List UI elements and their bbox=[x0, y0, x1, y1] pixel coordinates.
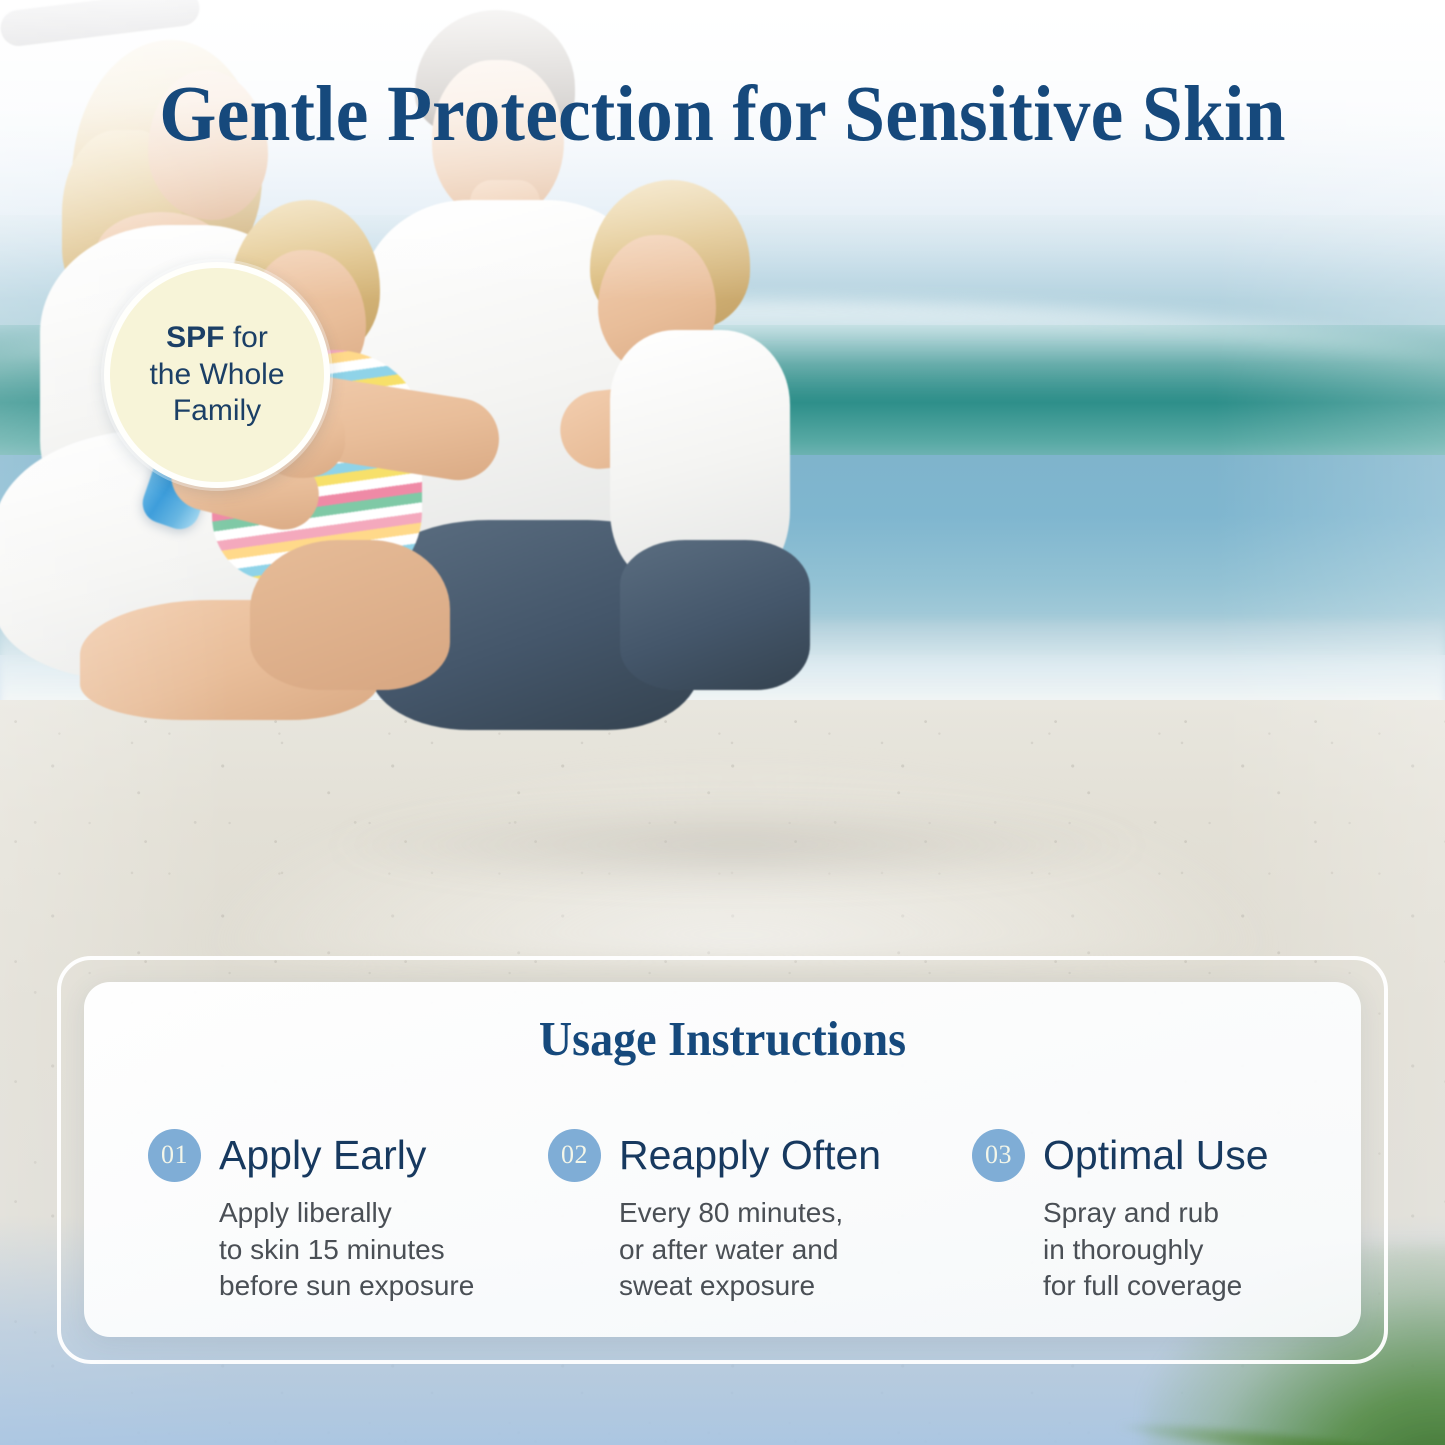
spf-badge-line1-bold: SPF bbox=[166, 321, 224, 354]
step-2-body: Every 80 minutes, or after water and swe… bbox=[619, 1195, 881, 1305]
step-2-header: 02 Reapply Often bbox=[548, 1127, 881, 1183]
instruction-step-3: 03 Optimal Use Spray and rub in thorough… bbox=[972, 1127, 1269, 1305]
step-1-body: Apply liberally to skin 15 minutes befor… bbox=[219, 1195, 474, 1305]
spf-badge: SPF for the Whole Family bbox=[104, 262, 330, 488]
step-3-number-badge: 03 bbox=[972, 1129, 1025, 1182]
product-infographic-poster: Gentle Protection for Sensitive Skin SPF… bbox=[0, 0, 1445, 1445]
step-2-title: Reapply Often bbox=[619, 1135, 881, 1176]
card-heading: Usage Instructions bbox=[122, 1010, 1322, 1067]
step-1-number-badge: 01 bbox=[148, 1129, 201, 1182]
instruction-step-2: 02 Reapply Often Every 80 minutes, or af… bbox=[548, 1127, 881, 1305]
spf-badge-line3: Family bbox=[173, 394, 261, 427]
spf-badge-text: SPF for the Whole Family bbox=[133, 320, 300, 430]
step-1-title: Apply Early bbox=[219, 1135, 426, 1176]
instruction-step-1: 01 Apply Early Apply liberally to skin 1… bbox=[148, 1127, 474, 1305]
page-title: Gentle Protection for Sensitive Skin bbox=[51, 70, 1395, 160]
step-3-header: 03 Optimal Use bbox=[972, 1127, 1269, 1183]
spf-badge-line2: the Whole bbox=[149, 358, 284, 391]
step-3-title: Optimal Use bbox=[1043, 1135, 1269, 1176]
step-3-body: Spray and rub in thoroughly for full cov… bbox=[1043, 1195, 1269, 1305]
step-2-number-badge: 02 bbox=[548, 1129, 601, 1182]
usage-instructions-card: Usage Instructions 01 Apply Early Apply … bbox=[84, 982, 1361, 1337]
step-1-header: 01 Apply Early bbox=[148, 1127, 474, 1183]
instruction-steps: 01 Apply Early Apply liberally to skin 1… bbox=[84, 1127, 1361, 1317]
spf-badge-line1-rest: for bbox=[224, 321, 267, 354]
